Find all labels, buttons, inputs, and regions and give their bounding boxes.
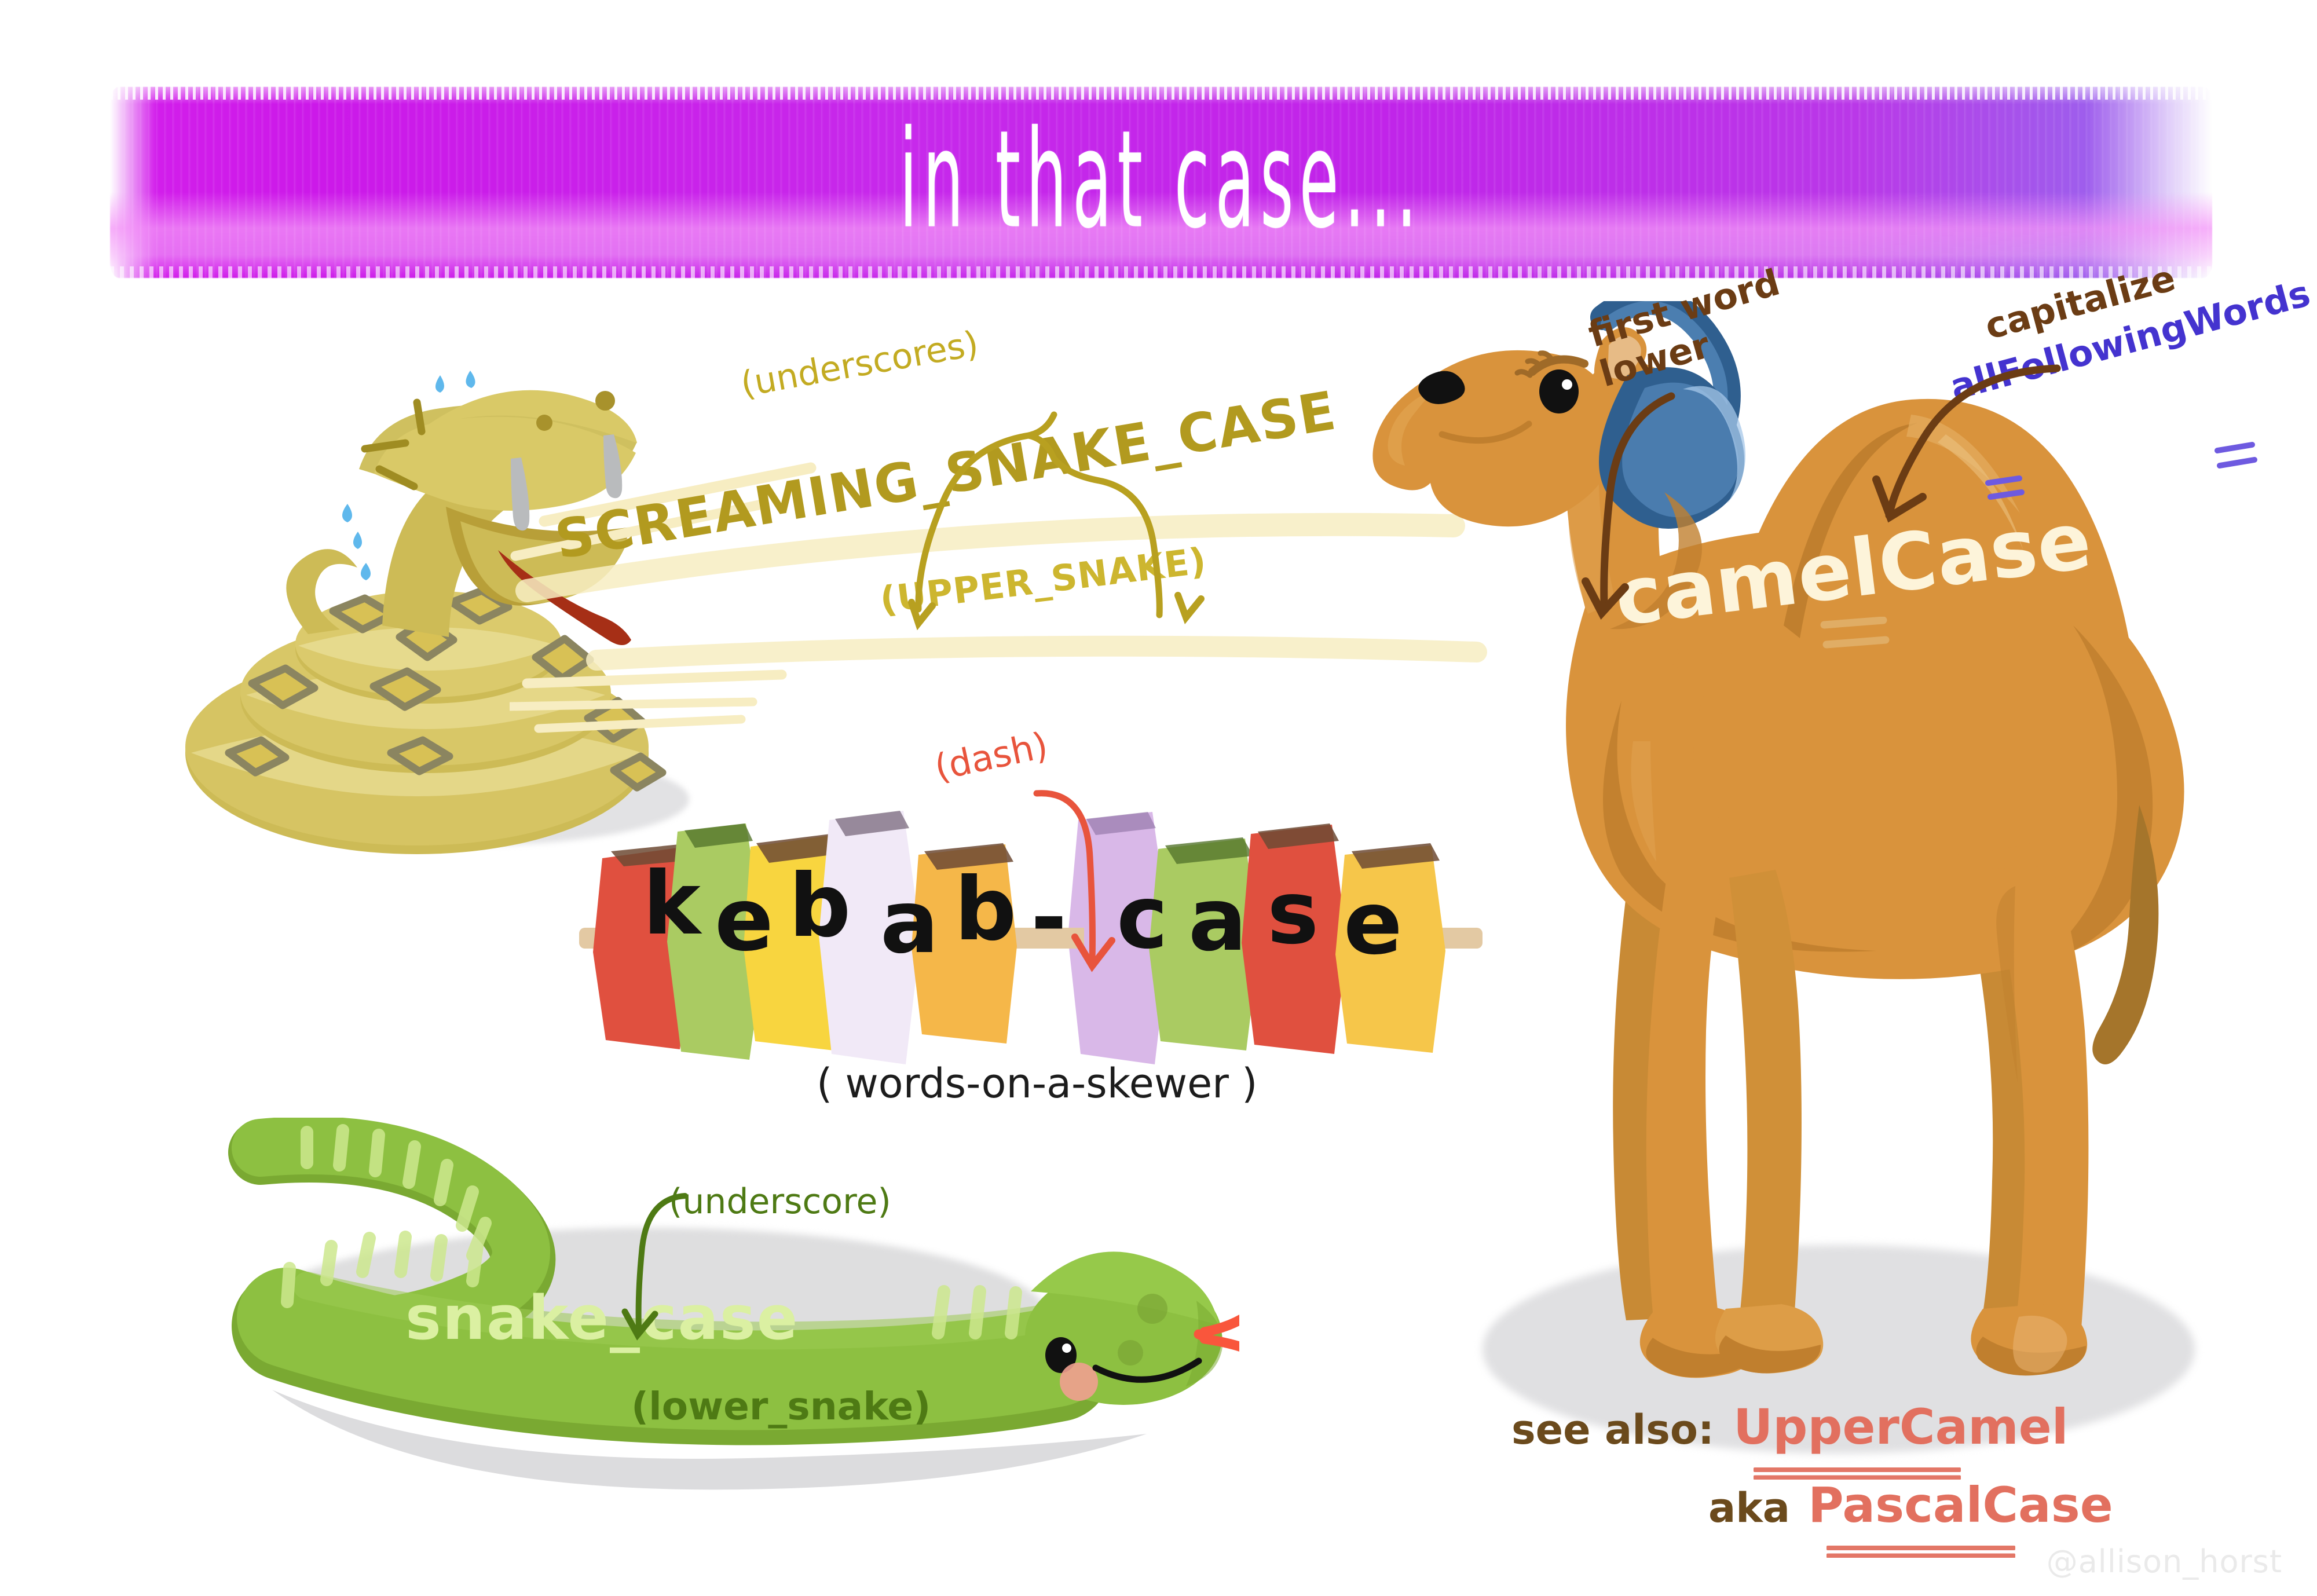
- see-also-prefix: see also:: [1511, 1406, 1714, 1454]
- page-title: in that case...: [110, 130, 2212, 231]
- words-on-a-skewer-alias-label: ( words-on-a-skewer ): [817, 1060, 1258, 1107]
- first-word-lower-arrow: [1575, 382, 1749, 625]
- dash-arrow: [1019, 776, 1193, 990]
- camelcase-underline-marks: [1818, 617, 1899, 657]
- aka-label: aka: [1708, 1484, 1790, 1532]
- capitalize-arrow: [1853, 353, 2073, 544]
- underscores-brace-arrows: [828, 405, 1280, 637]
- kebab-letter: k: [643, 861, 701, 947]
- see-also-line-1: see also: UpperCamel: [1511, 1399, 2069, 1455]
- underscores-annotation: (underscores): [738, 323, 982, 405]
- see-also-line-2: aka PascalCase: [1708, 1477, 2113, 1533]
- title-banner: in that case...: [110, 87, 2212, 278]
- upper-camel-term: UpperCamel: [1733, 1399, 2068, 1455]
- illustration-canvas: in that case...: [0, 0, 2317, 1596]
- artist-signature: @allison_horst: [2047, 1543, 2282, 1580]
- kebab-letter: a: [880, 879, 939, 966]
- lower-snake-alias-label: (lower_snake): [631, 1384, 931, 1429]
- kebab-letter: a: [1188, 877, 1247, 964]
- pascal-case-term: PascalCase: [1808, 1477, 2113, 1533]
- kebab-letter: b: [789, 863, 851, 950]
- kebab-letter: b: [954, 866, 1016, 953]
- kebab-letter: e: [715, 877, 774, 964]
- underscore-arrow: [611, 1184, 756, 1352]
